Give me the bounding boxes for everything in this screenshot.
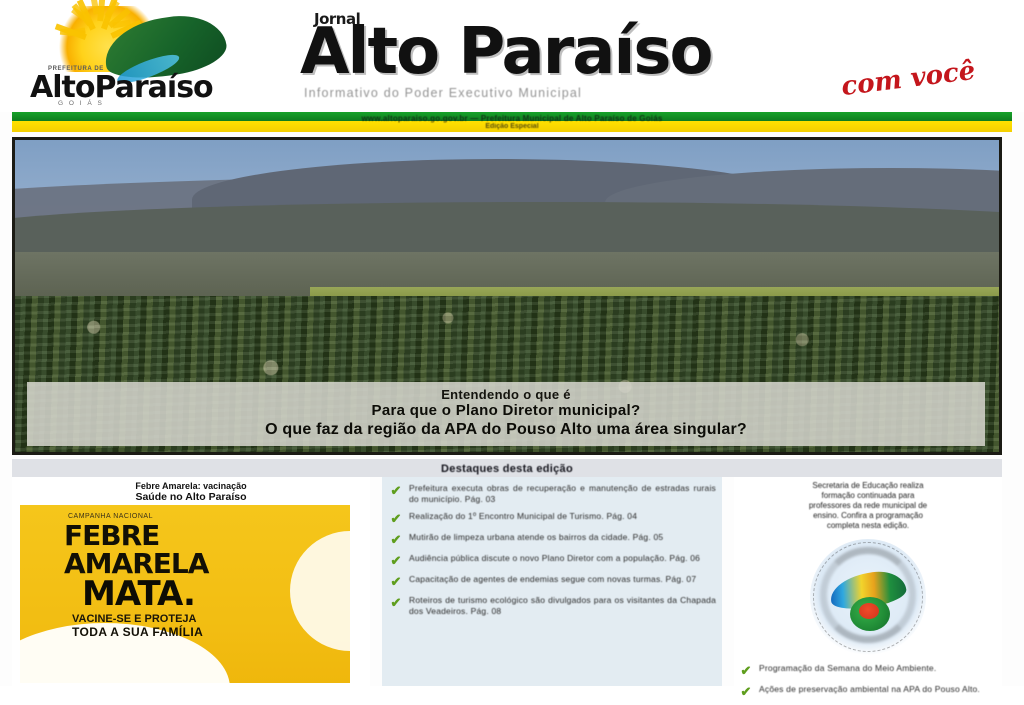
column-left-heading: Febre Amarela: vacinação Saúde no Alto P… [12,477,370,505]
globe-icon [850,597,890,631]
check-icon: ✔ [388,575,404,589]
check-icon: ✔ [388,533,404,547]
check-icon: ✔ [738,664,754,678]
masthead-title: Alto Paraíso [300,20,711,84]
list-item[interactable]: ✔ Roteiros de turismo ecológico são divu… [388,595,716,616]
hero-caption: Entendendo o que é Para que o Plano Dire… [27,382,985,446]
highlights-bar: Destaques desta edição [12,459,1002,477]
list-item[interactable]: ✔ Prefeitura executa obras de recuperaçã… [388,483,716,504]
column-right-text: Secretaria de Educação realiza formação … [734,477,1002,533]
flag-bar-line1: www.altoparaiso.go.gov.br — Prefeitura M… [12,114,1012,123]
list-item[interactable]: ✔ Programação da Semana do Meio Ambiente… [738,663,1000,677]
highlights-checklist: ✔ Prefeitura executa obras de recuperaçã… [388,483,716,623]
columns-area: Febre Amarela: vacinação Saúde no Alto P… [12,477,1002,686]
check-icon: ✔ [738,685,754,699]
column-right-text-line4: ensino. Confira a programação [746,511,990,521]
list-item[interactable]: ✔ Audiência pública discute o novo Plano… [388,553,716,567]
masthead-subtitle: Informativo do Poder Executivo Municipal [304,86,924,100]
list-item-text: Programação da Semana do Meio Ambiente. [759,663,1000,673]
list-item-text: Roteiros de turismo ecológico são divulg… [409,595,716,616]
photo-ridge-near [12,202,1002,258]
masthead-title-block: Jornal Alto Paraíso com você Informativo… [292,2,1004,110]
flag-bar: www.altoparaiso.go.gov.br — Prefeitura M… [12,112,1012,132]
column-right-text-line5: completa nesta edição. [746,521,990,531]
hero-caption-line3: O que faz da região da APA do Pouso Alto… [35,420,977,439]
newspaper-page: PREFEITURA DE AltoParaíso G O I Á S Jorn… [0,0,1024,686]
poster-line5: TODA A SUA FAMÍLIA [72,625,203,639]
list-item[interactable]: ✔ Ações de preservação ambiental na APA … [738,684,1000,698]
logo-sublabel: G O I Á S [58,100,104,107]
list-item-text: Realização do 1º Encontro Municipal de T… [409,511,716,522]
check-icon: ✔ [388,596,404,610]
column-middle: ✔ Prefeitura executa obras de recuperaçã… [382,477,722,686]
hero-caption-line1: Entendendo o que é [35,387,977,402]
flag-bar-line2: Edição Especial [12,123,1012,131]
column-right-text-line2: formação continuada para [746,491,990,501]
bird-emblem-icon [810,539,926,655]
list-item-text: Mutirão de limpeza urbana atende os bair… [409,532,716,543]
list-item-text: Prefeitura executa obras de recuperação … [409,483,716,504]
municipal-logo: PREFEITURA DE AltoParaíso G O I Á S [18,4,280,110]
list-item-text: Capacitação de agentes de endemias segue… [409,574,716,585]
hero-caption-line2: Para que o Plano Diretor municipal? [35,402,977,420]
poster-curve-right [290,531,350,651]
poster-line4: VACINE-SE E PROTEJA [72,613,197,625]
highlights-bar-label: Destaques desta edição [441,463,573,475]
right-checklist: ✔ Programação da Semana do Meio Ambiente… [738,663,1000,705]
column-left-heading-line2: Saúde no Alto Paraíso [22,492,360,503]
poster-line3: MATA. [82,577,195,612]
poster-line1: FEBRE [64,521,159,550]
list-item[interactable]: ✔ Realização do 1º Encontro Municipal de… [388,511,716,525]
hero-photo: Entendendo o que é Para que o Plano Dire… [12,137,1002,455]
column-right-text-line1: Secretaria de Educação realiza [746,481,990,491]
febre-amarela-poster: CAMPANHA NACIONAL FEBRE AMARELA MATA. VA… [20,505,350,683]
list-item-text: Audiência pública discute o novo Plano D… [409,553,716,564]
check-icon: ✔ [388,554,404,568]
column-right: Secretaria de Educação realiza formação … [734,477,1002,686]
check-icon: ✔ [388,484,404,498]
check-icon: ✔ [388,512,404,526]
column-left: Febre Amarela: vacinação Saúde no Alto P… [12,477,370,686]
list-item[interactable]: ✔ Mutirão de limpeza urbana atende os ba… [388,532,716,546]
list-item[interactable]: ✔ Capacitação de agentes de endemias seg… [388,574,716,588]
column-right-text-line3: professores da rede municipal de [746,501,990,511]
masthead: PREFEITURA DE AltoParaíso G O I Á S Jorn… [0,0,1024,112]
